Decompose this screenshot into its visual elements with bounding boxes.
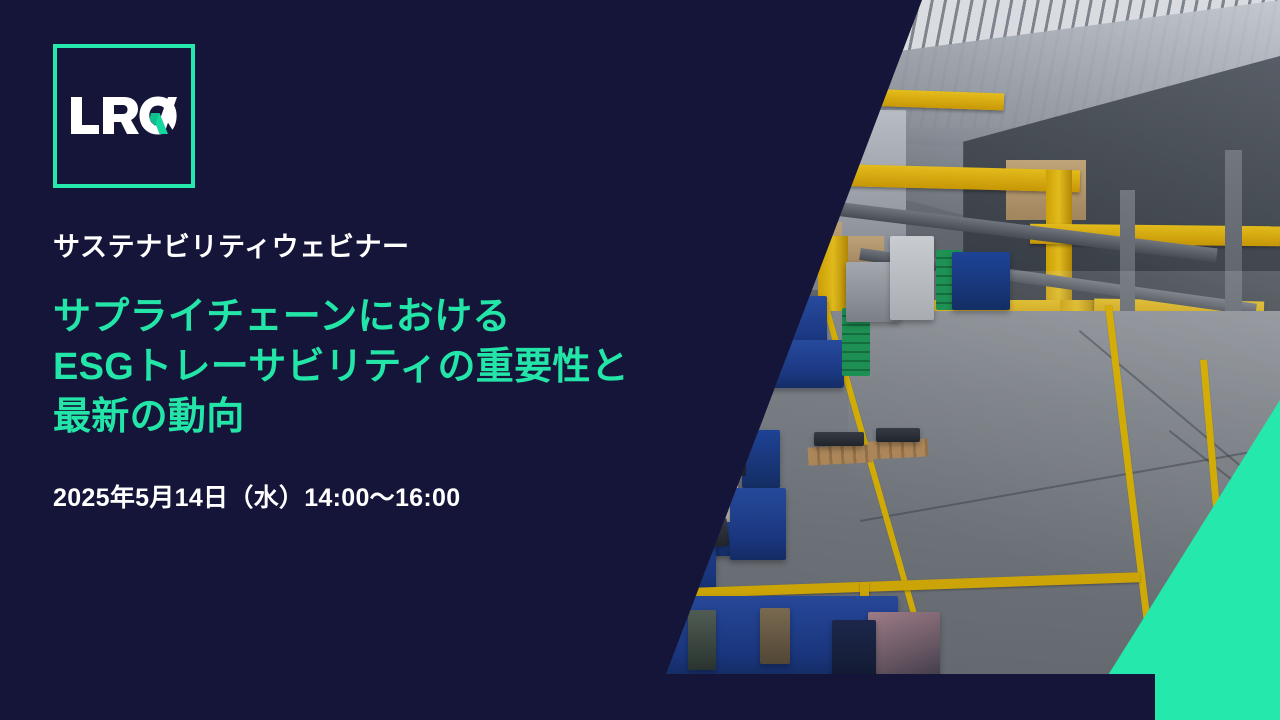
steel-blocks <box>814 432 864 446</box>
wooden-pallet <box>808 444 873 465</box>
lrqa-logo-svg <box>69 93 179 139</box>
lrqa-logo <box>53 44 195 188</box>
slide-content: サステナビリティウェビナー サプライチェーンにおける ESGトレーサビリティの重… <box>53 0 753 720</box>
enclosure-window <box>760 608 790 664</box>
eyebrow-label: サステナビリティウェビナー <box>53 225 410 264</box>
steel-blocks <box>876 428 920 442</box>
lrqa-logo-mark <box>69 93 179 139</box>
machine-unit <box>952 252 1010 310</box>
webinar-banner-slide: サステナビリティウェビナー サプライチェーンにおける ESGトレーサビリティの重… <box>0 0 1280 720</box>
machine-cabinet <box>890 236 934 320</box>
event-datetime: 2025年5月14日（水）14:00〜16:00 <box>53 478 460 514</box>
dark-panel <box>832 620 876 677</box>
page-title: サプライチェーンにおける ESGトレーサビリティの重要性と 最新の動向 <box>53 292 629 442</box>
granite-slab <box>868 612 940 677</box>
